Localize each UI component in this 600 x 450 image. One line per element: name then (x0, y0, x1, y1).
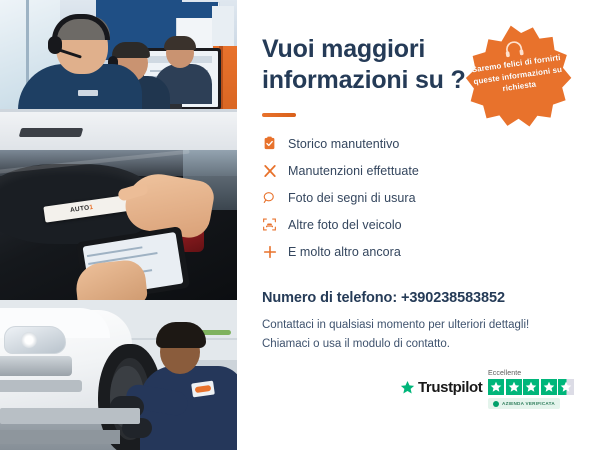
vehicle-lift-arm (0, 408, 140, 424)
feature-item-storico[interactable]: Storico manutentivo (262, 130, 512, 157)
trustpilot-rating-label: Eccellente (488, 370, 521, 377)
feature-label: Foto dei segni di usura (288, 191, 416, 205)
title-divider (262, 113, 296, 117)
feature-label: E molto altro ancora (288, 245, 401, 259)
trustpilot-star-icon (400, 380, 415, 395)
photo-column: AUTO1 (0, 0, 237, 450)
headset-icon (503, 40, 525, 59)
page-title: Vuoi maggiori informazioni su ? (262, 34, 477, 95)
car-grille (0, 356, 72, 376)
trustpilot-logo: Trustpilot (400, 379, 482, 396)
feature-label: Manutenzioni effettuate (288, 164, 419, 178)
feature-item-altre-foto[interactable]: Altre foto del veicolo (262, 211, 512, 238)
rating-star-partial (558, 379, 574, 395)
photo-wheel-inspection (0, 300, 237, 450)
vehicle-lift-base (0, 430, 120, 444)
rating-star (506, 379, 522, 395)
clipboard-check-icon (262, 134, 288, 154)
trustpilot-widget[interactable]: Trustpilot Eccellente (400, 370, 580, 414)
headset-band (52, 14, 110, 40)
uniform-logo (78, 90, 98, 96)
contact-instructions: Contattaci in qualsiasi momento per ulte… (262, 316, 592, 354)
car-headlight (4, 326, 66, 354)
contact-line-2: Chiamaci o usa il modulo di contatto. (262, 335, 592, 354)
info-panel: Vuoi maggiori informazioni su ? Saremo f… (237, 0, 600, 450)
verified-company-badge: AZIENDA VERIFICATA (488, 398, 560, 409)
plus-icon (262, 242, 288, 262)
desk-keyboard (19, 128, 84, 137)
feature-item-foto-usura[interactable]: Foto dei segni di usura (262, 184, 512, 211)
feature-label: Storico manutentivo (288, 137, 399, 151)
contact-line-1: Contattaci in qualsiasi momento per ulte… (262, 316, 592, 335)
photo-vehicle-sticker: AUTO1 (0, 150, 237, 300)
mechanic (140, 322, 237, 450)
feature-item-manutenzioni[interactable]: Manutenzioni effettuate (262, 157, 512, 184)
info-on-request-badge: Saremo felici di fornirti queste informa… (458, 17, 578, 137)
magnifier-icon (262, 188, 288, 208)
photo-call-center (0, 0, 237, 150)
rating-star (523, 379, 539, 395)
desk-edge (0, 109, 237, 112)
verified-check-icon (493, 401, 499, 407)
promo-card: AUTO1 (0, 0, 600, 450)
feature-item-altro[interactable]: E molto altro ancora (262, 238, 512, 265)
feature-list: Storico manutentivo Manutenzioni effettu… (262, 130, 512, 265)
car-lower-grille (0, 380, 82, 392)
feature-label: Altre foto del veicolo (288, 218, 402, 232)
verified-label: AZIENDA VERIFICATA (502, 401, 555, 406)
trustpilot-wordmark: Trustpilot (418, 379, 482, 396)
sticker-brand-text: AUTO1 (70, 204, 94, 214)
phone-number-line[interactable]: Numero di telefono: +390238583852 (262, 290, 592, 306)
mechanic-hair (156, 322, 206, 348)
tools-cross-icon (262, 161, 288, 181)
car-scan-icon (262, 215, 288, 235)
trustpilot-star-rating (488, 379, 574, 395)
rating-star (541, 379, 557, 395)
rating-star (488, 379, 504, 395)
